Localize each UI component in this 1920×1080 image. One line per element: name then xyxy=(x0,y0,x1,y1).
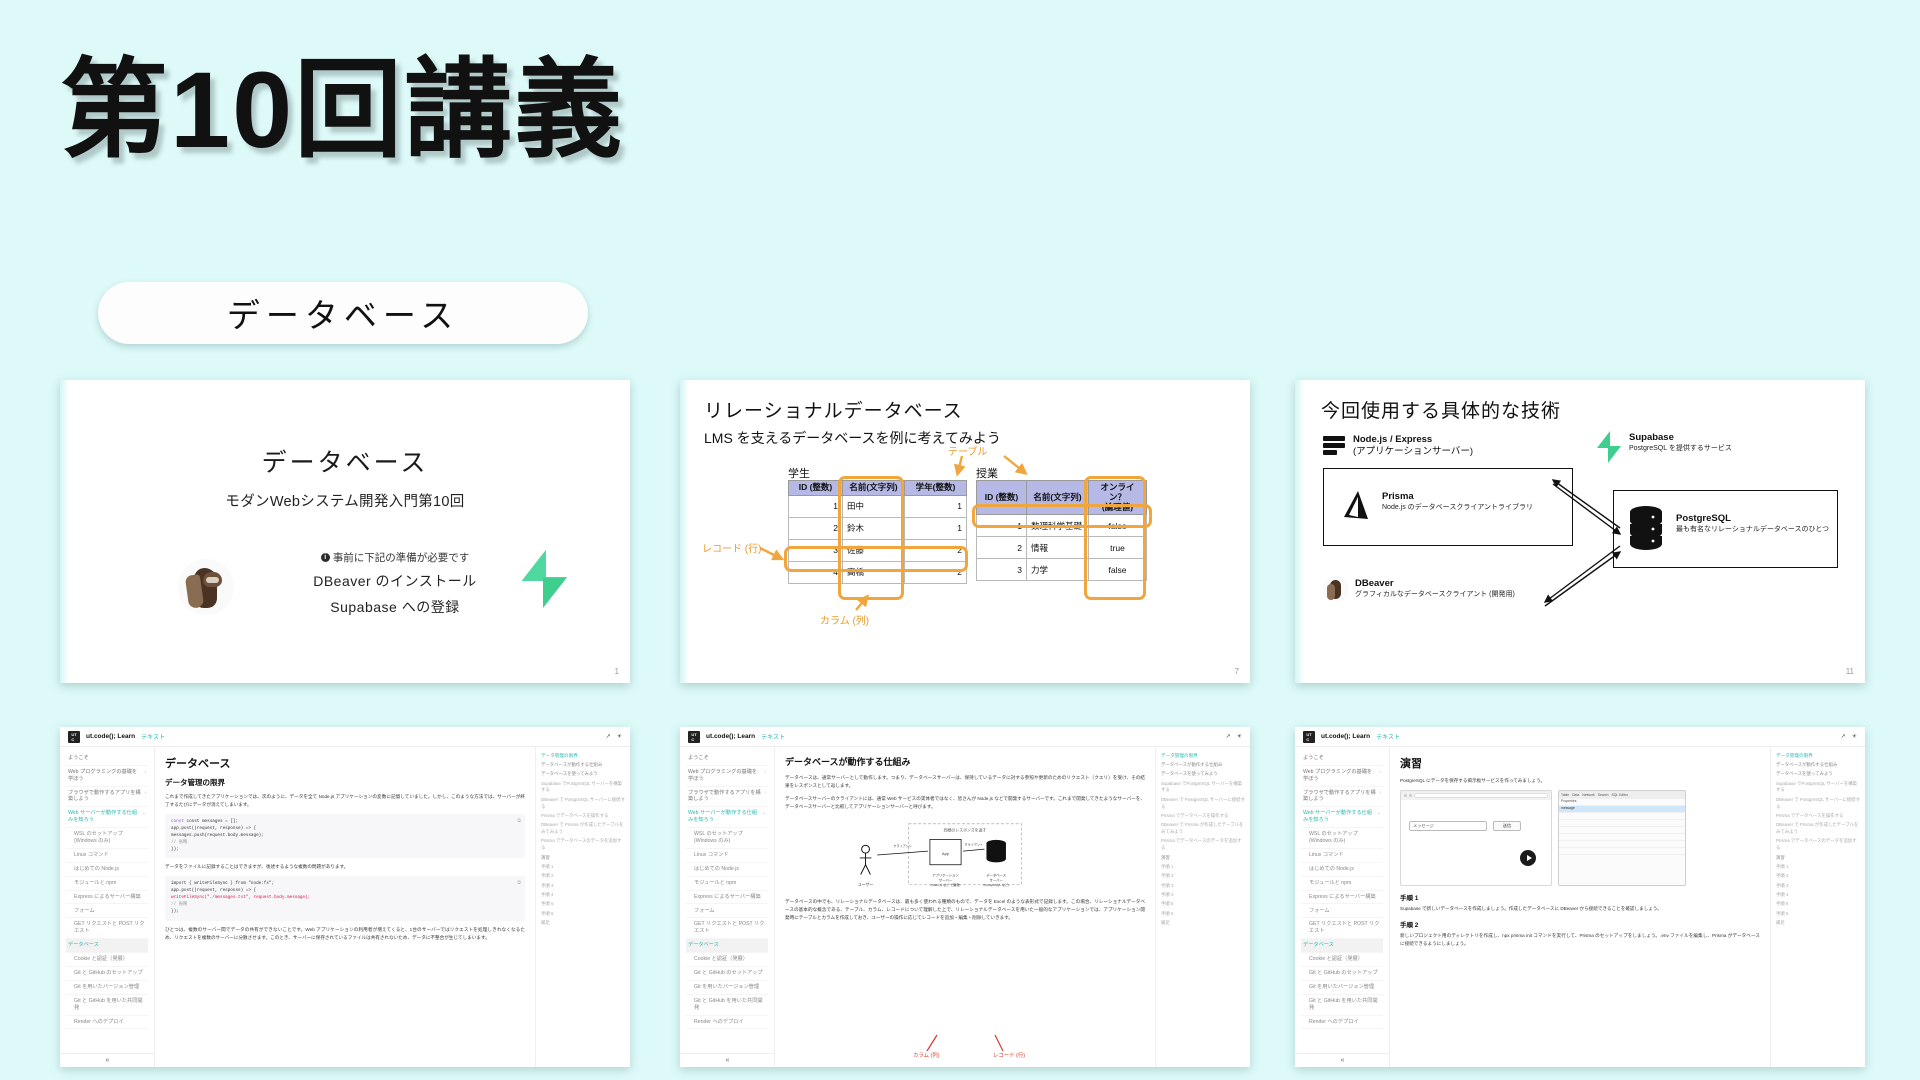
theme-toggle-icon[interactable]: ☀ xyxy=(617,733,622,740)
toc-item[interactable]: 手順 4 xyxy=(541,892,625,899)
brand-label: ut.code(); Learn xyxy=(706,733,755,740)
sidebar-item[interactable]: GET リクエストと POST リクエスト xyxy=(686,918,768,939)
supabase-icon xyxy=(514,548,572,610)
paragraph: データベースの中でも、リレーショナルデータベースは、最も多く使われる種類のもので… xyxy=(785,898,1145,922)
annotation-arrows xyxy=(905,1031,1025,1053)
dbeaver-row: Properties xyxy=(1559,799,1685,806)
table-row: 4高橋2 xyxy=(789,561,967,583)
sidebar-item[interactable]: Web プログラミングの基礎を学ぼう› xyxy=(66,766,148,787)
sidebar-item[interactable]: WSL のセットアップ (Windows のみ) xyxy=(686,828,768,849)
toc-item[interactable]: 手順 3 xyxy=(1161,883,1245,890)
content-subheading: データ管理の限界 xyxy=(165,777,525,788)
paragraph: これまで作成してきたアプリケーションでは、次のように、データを全て Node.j… xyxy=(165,793,525,809)
sidebar-item[interactable]: Linux コマンド xyxy=(1301,849,1383,863)
toc-item[interactable]: DBeaver で Prisma が作成したテーブルをみてみよう xyxy=(1776,822,1860,836)
toc-item[interactable]: Supabase でPostgreSQL サーバーを構築する xyxy=(1161,781,1245,795)
chevron-right-icon: › xyxy=(1379,790,1381,804)
table-of-contents[interactable]: データ管理の限界 データベースが動作する仕組み データベースを使ってみよう Su… xyxy=(1155,747,1250,1067)
dbeaver-icon xyxy=(178,559,234,615)
slide-accent xyxy=(1295,380,1304,683)
svg-text:App: App xyxy=(942,851,949,856)
sidebar-item[interactable]: ようこそ xyxy=(686,752,768,766)
annotation-table: テーブル xyxy=(948,443,987,458)
toc-item[interactable]: 手順 2 xyxy=(1161,873,1245,880)
th: ID (整数) xyxy=(977,481,1027,515)
nav-link-text[interactable]: テキスト xyxy=(761,732,785,741)
node-desc: Node.js のデータベースクライアントライブラリ xyxy=(1382,503,1533,512)
sidebar-item[interactable]: Web サーバーが動作する仕組みを知ろう⌄ xyxy=(66,807,148,828)
brand-label: ut.code(); Learn xyxy=(1321,733,1370,740)
node-name: Prisma xyxy=(1382,491,1533,503)
node-label-group: Node.js / Express (アプリケーションサーバー) xyxy=(1353,434,1473,459)
sidebar-item[interactable]: モジュールと npm xyxy=(1301,877,1383,891)
sidebar-item[interactable]: はじめての Node.js xyxy=(1301,863,1383,877)
toc-item[interactable]: 手順 6 xyxy=(541,911,625,918)
svg-text:同様のレスポンスを返す: 同様のレスポンスを返す xyxy=(944,828,987,833)
toc-item[interactable]: 手順 1 xyxy=(541,864,625,871)
sidebar-item[interactable]: モジュールと npm xyxy=(66,877,148,891)
copy-icon[interactable]: ⧉ xyxy=(517,879,521,887)
class-table: ID (整数) 名前(文字列) オンライン？ (論理値) 1数理科学基礎fals… xyxy=(976,480,1147,581)
browser-header: UTC ut.code(); Learn テキスト ↗ ☀ xyxy=(60,727,630,747)
main-content: 演習 PostgreSQL にデータを保存する掲示板サービスを作ってみましょう。… xyxy=(1390,747,1770,1067)
sidebar[interactable]: ようこそ Web プログラミングの基礎を学ぼう› ブラウザで動作するアプリを構築… xyxy=(680,747,775,1067)
sidebar[interactable]: ようこそ Web プログラミングの基礎を学ぼう› ブラウザで動作するアプリを構築… xyxy=(60,747,155,1067)
toc-heading[interactable]: データ管理の限界 xyxy=(1776,753,1860,759)
node-desc: PostgreSQL を提供するサービス xyxy=(1629,444,1732,453)
svg-text:ユーザー: ユーザー xyxy=(858,882,874,887)
browser-screenshot-2[interactable]: UTC ut.code(); Learn テキスト ↗ ☀ ようこそ Web プ… xyxy=(680,727,1250,1067)
sidebar-item[interactable]: Git と GitHub を用いた共同開発 xyxy=(686,995,768,1016)
sidebar-item[interactable]: Render へのデプロイ xyxy=(66,1016,148,1030)
sidebar-item[interactable]: Web プログラミングの基礎を学ぼう› xyxy=(1301,766,1383,787)
toc-item[interactable]: データベースを使ってみよう xyxy=(1161,771,1245,778)
toc-item[interactable]: 手順 6 xyxy=(1776,911,1860,918)
browser-screenshot-3[interactable]: UTC ut.code(); Learn テキスト ↗ ☀ ようこそ Web プ… xyxy=(1295,727,1865,1067)
dbeaver-window: Table Data Network Search SQL Editor Pro… xyxy=(1558,790,1686,886)
table-row: 3力学false xyxy=(977,559,1147,581)
sidebar-item[interactable]: Linux コマンド xyxy=(66,849,148,863)
play-button[interactable] xyxy=(1520,850,1536,866)
th: ID (整数) xyxy=(789,481,843,496)
svg-text:サーバー: サーバー xyxy=(990,877,1003,882)
sidebar-item[interactable]: Git と GitHub を用いた共同開発 xyxy=(1301,995,1383,1016)
slide1-note-line2: Supabase への登録 xyxy=(242,597,548,617)
table-row: 2鈴木1 xyxy=(789,517,967,539)
chevron-down-icon: ⌄ xyxy=(762,810,766,824)
slide3-page-number: 11 xyxy=(1846,667,1854,676)
dbeaver-tabs[interactable]: Table Data Network Search SQL Editor xyxy=(1559,791,1685,799)
toc-item[interactable]: DBeaver で Prisma が作成したテーブルをみてみよう xyxy=(541,822,625,836)
prisma-icon xyxy=(1338,489,1372,527)
paragraph: データベースは、通常サーバーとして動作します。つまり、データベースサーバーは、保… xyxy=(785,774,1145,790)
toc-item[interactable]: データベースを使ってみよう xyxy=(541,771,625,778)
sidebar-item[interactable]: WSL のセットアップ (Windows のみ) xyxy=(66,828,148,849)
utcode-logo: UTC xyxy=(68,731,80,743)
sidebar-item[interactable]: フォーム xyxy=(1301,904,1383,918)
chevron-right-icon: › xyxy=(144,790,146,804)
theme-toggle-icon[interactable]: ☀ xyxy=(1237,733,1242,740)
toc-item[interactable]: 補足 xyxy=(1161,920,1245,927)
sidebar-item[interactable]: Git を用いたバージョン管理 xyxy=(1301,981,1383,995)
external-link-icon[interactable]: ↗ xyxy=(1226,733,1231,740)
annotation-column: カラム (列) xyxy=(820,612,869,627)
external-link-icon[interactable]: ↗ xyxy=(1841,733,1846,740)
th: 学年(整数) xyxy=(905,481,967,496)
paragraph: データベースサーバーのクライアントには、通常 Web サービスの実体者ではなく、… xyxy=(785,795,1145,811)
toc-item[interactable]: 手順 2 xyxy=(541,873,625,880)
sidebar-item[interactable]: Express によるサーバー構築 xyxy=(686,891,768,905)
mini-browser-toolbar xyxy=(1401,791,1551,800)
external-link-icon[interactable]: ↗ xyxy=(606,733,611,740)
sidebar-item[interactable]: Express によるサーバー構築 xyxy=(66,891,148,905)
server-icon xyxy=(1323,436,1345,460)
table-row: 3佐藤2 xyxy=(789,539,967,561)
toc-item[interactable]: 手順 5 xyxy=(541,901,625,908)
svg-text:(PostgreSQL など): (PostgreSQL など) xyxy=(983,882,1009,887)
chevron-down-icon: ⌄ xyxy=(142,810,146,824)
content-heading: 演習 xyxy=(1400,755,1760,771)
dbeaver-row xyxy=(1559,820,1685,827)
message-input[interactable]: メッセージ xyxy=(1409,821,1487,831)
sidebar-item-database[interactable]: データベース xyxy=(66,939,148,953)
slide1-page-number: 1 xyxy=(615,667,619,676)
sidebar-item-database[interactable]: データベース xyxy=(686,939,768,953)
browser-header: UTC ut.code(); Learn テキスト ↗ ☀ xyxy=(680,727,1250,747)
svg-text:サーバー: サーバー xyxy=(939,877,952,882)
sidebar-item-database[interactable]: データベース xyxy=(1301,939,1383,953)
toc-item[interactable]: 手順 4 xyxy=(1776,892,1860,899)
slide3-title: 今回使用する具体的な技術 xyxy=(1321,396,1561,423)
sidebar-item[interactable]: WSL のセットアップ (Windows のみ) xyxy=(1301,828,1383,849)
toc-heading[interactable]: データ管理の限界 xyxy=(1161,753,1245,759)
toc-item[interactable]: 手順 3 xyxy=(541,883,625,890)
sidebar-item[interactable]: Web サーバーが動作する仕組みを知ろう⌄ xyxy=(1301,807,1383,828)
annotation-record: レコード (行) xyxy=(702,540,761,555)
main-content: データベースが動作する仕組み データベースは、通常サーバーとして動作します。つま… xyxy=(775,747,1155,1067)
sidebar-item[interactable]: はじめての Node.js xyxy=(686,863,768,877)
slide1-note: i 事前に下記の準備が必要です DBeaver のインストール Supabase… xyxy=(178,550,548,623)
slide-card-3[interactable]: 今回使用する具体的な技術 Node.js / Express (アプリケーション… xyxy=(1295,380,1865,683)
architecture-figure: 同様のレスポンスを返す ユーザー App アプリケーション サーバー (Node… xyxy=(785,816,1145,894)
svg-text:アプリケーション: アプリケーション xyxy=(932,873,959,878)
sidebar-item[interactable]: Cookie と認証（発展） xyxy=(66,953,148,967)
toc-item[interactable]: 手順 4 xyxy=(1161,892,1245,899)
paragraph: PostgreSQL にデータを保存する掲示板サービスを作ってみましょう。 xyxy=(1400,777,1760,785)
paragraph: データをファイルに記録することはできますが、後述するような複数の問題があります。 xyxy=(165,863,525,871)
theme-toggle-icon[interactable]: ☀ xyxy=(1852,733,1857,740)
sidebar-item[interactable]: はじめての Node.js xyxy=(66,863,148,877)
toc-item[interactable]: 手順 1 xyxy=(1776,864,1860,871)
chevron-right-icon: › xyxy=(1379,769,1381,783)
node-name: Supabase xyxy=(1629,432,1732,444)
slide2-page-number: 7 xyxy=(1235,667,1239,676)
toc-item[interactable]: DBeaver で PostgreSQL サーバーに接続する xyxy=(1776,797,1860,811)
sidebar-item[interactable]: Render へのデプロイ xyxy=(686,1016,768,1030)
sidebar[interactable]: ようこそ Web プログラミングの基礎を学ぼう› ブラウザで動作するアプリを構築… xyxy=(1295,747,1390,1067)
chevron-down-icon: ⌄ xyxy=(1377,810,1381,824)
toc-item[interactable]: Supabase でPostgreSQL サーバーを構築する xyxy=(541,781,625,795)
th: 名前(文字列) xyxy=(1027,481,1089,515)
sidebar-item[interactable]: フォーム xyxy=(66,904,148,918)
paragraph: 新しいプロジェクト用のディレクトリを作成し、npx prisma init コマ… xyxy=(1400,932,1760,948)
sidebar-item[interactable]: ブラウザで動作するアプリを構築しよう› xyxy=(686,787,768,808)
dbeaver-icon xyxy=(1323,576,1349,602)
table-row: 1数理科学基礎false xyxy=(977,515,1147,537)
toc-item[interactable]: 演習 xyxy=(1161,855,1245,862)
toc-item[interactable]: 演習 xyxy=(541,855,625,862)
send-button[interactable]: 送信 xyxy=(1493,821,1521,831)
chevron-right-icon: › xyxy=(764,769,766,783)
slide-card-1[interactable]: データベース モダンWebシステム開発入門第10回 i 事前に下記の準備が必要で… xyxy=(60,380,630,683)
nav-link-text[interactable]: テキスト xyxy=(141,732,165,741)
node-name: DBeaver xyxy=(1355,578,1515,590)
svg-text:(Node.js など で開発): (Node.js など で開発) xyxy=(931,882,961,887)
student-table-caption: 学生 xyxy=(788,465,810,481)
info-icon: i xyxy=(321,553,330,562)
slide1-note-line1: DBeaver のインストール xyxy=(242,571,548,591)
toc-item[interactable]: Prisma でデータベースのデータを追加する xyxy=(541,838,625,852)
dbeaver-row xyxy=(1559,834,1685,841)
node-desc: グラフィカルなデータベースクライアント (開発用) xyxy=(1355,590,1515,599)
node-desc: (アプリケーションサーバー) xyxy=(1353,446,1473,458)
code-block: ⧉ import { writeFileSync } from "node:fs… xyxy=(165,876,525,920)
page-title: 第10回講義 xyxy=(60,48,624,172)
sidebar-item[interactable]: Linux コマンド xyxy=(686,849,768,863)
table-row: 1田中1 xyxy=(789,495,967,517)
browser-screenshot-1[interactable]: UTC ut.code(); Learn テキスト ↗ ☀ ようこそ Web プ… xyxy=(60,727,630,1067)
sidebar-item[interactable]: ブラウザで動作するアプリを構築しよう› xyxy=(66,787,148,808)
sidebar-item[interactable]: Cookie と認証（発展） xyxy=(686,953,768,967)
sidebar-item[interactable]: Git と GitHub を用いた共同開発 xyxy=(66,995,148,1016)
chevron-right-icon: › xyxy=(144,769,146,783)
utcode-logo: UTC xyxy=(688,731,700,743)
chevron-right-icon: › xyxy=(764,790,766,804)
toc-item[interactable]: 手順 5 xyxy=(1776,901,1860,908)
code-block: ⧉ const const messages = []; app.post((r… xyxy=(165,814,525,858)
toc-item[interactable]: Prisma でデータベースのデータを追加する xyxy=(1161,838,1245,852)
sidebar-item[interactable]: ブラウザで動作するアプリを構築しよう› xyxy=(1301,787,1383,808)
slide1-note-heading: 事前に下記の準備が必要です xyxy=(333,550,470,565)
sidebar-item[interactable]: フォーム xyxy=(686,904,768,918)
dbeaver-row xyxy=(1559,848,1685,855)
node-name: Node.js / Express xyxy=(1353,434,1473,446)
toc-item[interactable]: データベースが動作する仕組み xyxy=(1161,762,1245,769)
toc-item[interactable]: 手順 2 xyxy=(1776,873,1860,880)
sidebar-item[interactable]: GET リクエストと POST リクエスト xyxy=(1301,918,1383,939)
database-box: PostgreSQL 最も有名なリレーショナルデータベースのひとつ xyxy=(1613,490,1838,568)
class-table-caption: 授業 xyxy=(976,465,998,481)
sidebar-item[interactable]: GET リクエストと POST リクエスト xyxy=(66,918,148,939)
collapse-sidebar-button[interactable]: « xyxy=(680,1053,775,1064)
table-of-contents[interactable]: データ管理の限界 データベースが動作する仕組み データベースを使ってみよう Su… xyxy=(1770,747,1865,1067)
paragraph: Supabase で新しいデータベースを作成しましょう。作成したデータベースに … xyxy=(1400,905,1760,913)
svg-text:クライアント: クライアント xyxy=(965,841,984,846)
sidebar-item[interactable]: Cookie と認証（発展） xyxy=(1301,953,1383,967)
sidebar-item[interactable]: Git を用いたバージョン管理 xyxy=(686,981,768,995)
toc-item[interactable]: 手順 6 xyxy=(1161,911,1245,918)
main-content: データベース データ管理の限界 これまで作成してきたアプリケーションでは、次のよ… xyxy=(155,747,535,1067)
application-server-box: Prisma Node.js のデータベースクライアントライブラリ xyxy=(1323,468,1573,546)
sidebar-item[interactable]: Git と GitHub のセットアップ xyxy=(1301,967,1383,981)
toc-item[interactable]: Prisma でデータベースのデータを追加する xyxy=(1776,838,1860,852)
node-desc: 最も有名なリレーショナルデータベースのひとつ xyxy=(1676,525,1829,534)
topic-pill: データベース xyxy=(98,282,588,344)
step-heading: 手順 2 xyxy=(1400,919,1760,929)
slide-accent xyxy=(680,380,689,683)
slide1-subtitle: モダンWebシステム開発入門第10回 xyxy=(60,490,630,511)
svg-text:データベース: データベース xyxy=(986,873,1006,878)
toc-item[interactable]: データベースを使ってみよう xyxy=(1776,771,1860,778)
slide1-title: データベース xyxy=(60,443,630,479)
utcode-logo: UTC xyxy=(1303,731,1315,743)
sidebar-item[interactable]: Web プログラミングの基礎を学ぼう› xyxy=(686,766,768,787)
dbeaver-row xyxy=(1559,827,1685,834)
dbeaver-row xyxy=(1559,813,1685,820)
dbeaver-row xyxy=(1559,841,1685,848)
sidebar-item[interactable]: Render へのデプロイ xyxy=(1301,1016,1383,1030)
toc-item[interactable]: 手順 3 xyxy=(1776,883,1860,890)
toc-item[interactable]: 補足 xyxy=(1776,920,1860,927)
sidebar-item[interactable]: モジュールと npm xyxy=(686,877,768,891)
slide-accent xyxy=(60,380,69,683)
supabase-icon xyxy=(1593,430,1623,464)
slide-card-2[interactable]: リレーショナルデータベース LMS を支えるデータベースを例に考えてみよう 学生… xyxy=(680,380,1250,683)
th: 名前(文字列) xyxy=(843,481,905,496)
toc-item[interactable]: Supabase でPostgreSQL サーバーを構築する xyxy=(1776,781,1860,795)
sidebar-item[interactable]: Git と GitHub のセットアップ xyxy=(686,967,768,981)
collapse-sidebar-button[interactable]: « xyxy=(1295,1053,1390,1064)
sidebar-item[interactable]: ようこそ xyxy=(66,752,148,766)
sidebar-item[interactable]: Express によるサーバー構築 xyxy=(1301,891,1383,905)
supabase-label-group: Supabase PostgreSQL を提供するサービス xyxy=(1629,432,1732,454)
dbeaver-row: message xyxy=(1559,806,1685,813)
toc-item[interactable]: 手順 5 xyxy=(1161,901,1245,908)
toc-item[interactable]: 演習 xyxy=(1776,855,1860,862)
toc-item[interactable]: 補足 xyxy=(541,920,625,927)
sidebar-item[interactable]: ようこそ xyxy=(1301,752,1383,766)
toc-heading[interactable]: データ管理の限界 xyxy=(541,753,625,759)
toc-item[interactable]: Prisma でデータベースを操作する xyxy=(1161,813,1245,820)
slide2-title: リレーショナルデータベース xyxy=(704,396,963,423)
collapse-sidebar-button[interactable]: « xyxy=(60,1053,155,1064)
step-heading: 手順 1 xyxy=(1400,892,1760,902)
toc-item[interactable]: DBeaver で PostgreSQL サーバーに接続する xyxy=(541,797,625,811)
demo-screenshot: メッセージ 送信 Table Data Network Search SQL E… xyxy=(1400,790,1760,886)
node-name: PostgreSQL xyxy=(1676,513,1829,525)
toc-item[interactable]: Prisma でデータベースを操作する xyxy=(1776,813,1860,820)
sidebar-item[interactable]: Git を用いたバージョン管理 xyxy=(66,981,148,995)
sidebar-item[interactable]: Git と GitHub のセットアップ xyxy=(66,967,148,981)
mini-url-bar[interactable] xyxy=(1414,793,1548,798)
toc-item[interactable]: データベースが動作する仕組み xyxy=(541,762,625,769)
nav-link-text[interactable]: テキスト xyxy=(1376,732,1400,741)
toc-item[interactable]: データベースが動作する仕組み xyxy=(1776,762,1860,769)
toc-item[interactable]: 手順 1 xyxy=(1161,864,1245,871)
toc-item[interactable]: DBeaver で PostgreSQL サーバーに接続する xyxy=(1161,797,1245,811)
toc-item[interactable]: Prisma でデータベースを操作する xyxy=(541,813,625,820)
database-icon xyxy=(1626,505,1666,551)
student-table: ID (整数) 名前(文字列) 学年(整数) 1田中1 2鈴木1 3佐藤2 4高… xyxy=(788,480,967,584)
content-heading: データベースが動作する仕組み xyxy=(785,755,1145,768)
mini-browser-window: メッセージ 送信 xyxy=(1400,790,1552,886)
content-heading: データベース xyxy=(165,755,525,771)
th: オンライン？ (論理値) xyxy=(1089,481,1147,515)
browser-header: UTC ut.code(); Learn テキスト ↗ ☀ xyxy=(1295,727,1865,747)
paragraph: ひとつは、複数のサーバー間でデータの共有ができないことです。Web アプリケーシ… xyxy=(165,926,525,942)
table-row: 2情報true xyxy=(977,537,1147,559)
copy-icon[interactable]: ⧉ xyxy=(517,817,521,825)
svg-text:クライアント: クライアント xyxy=(893,843,912,848)
toc-item[interactable]: DBeaver で Prisma が作成したテーブルをみてみよう xyxy=(1161,822,1245,836)
sidebar-item[interactable]: Web サーバーが動作する仕組みを知ろう⌄ xyxy=(686,807,768,828)
dbeaver-label-group: DBeaver グラフィカルなデータベースクライアント (開発用) xyxy=(1355,578,1515,600)
brand-label: ut.code(); Learn xyxy=(86,733,135,740)
table-of-contents[interactable]: データ管理の限界 データベースが動作する仕組み データベースを使ってみよう Su… xyxy=(535,747,630,1067)
